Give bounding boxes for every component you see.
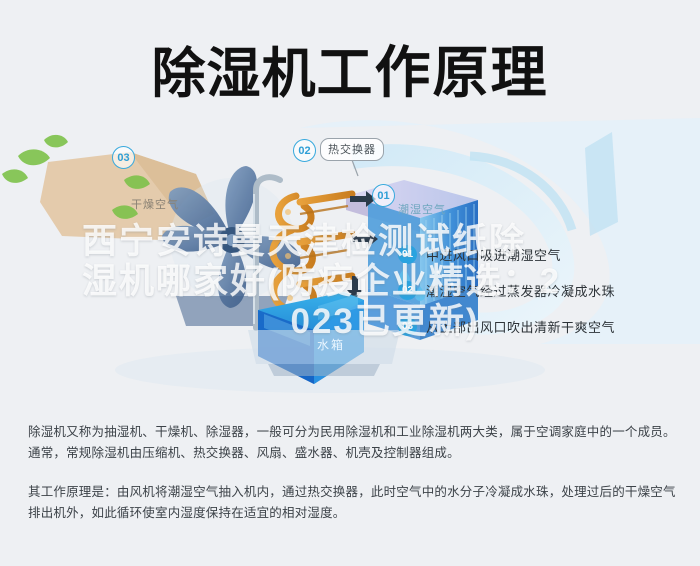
label-water-tank: 水箱 — [317, 336, 345, 353]
paragraph-two-line-1: 其工作原理是：由风机将潮湿空气抽入机内，通过热交换器，此时空气中的水分子冷凝成水… — [28, 482, 676, 503]
step-list: 01 中进风口吸进潮湿空气 02 潮湿空气经过蒸发器冷凝成水珠 03 从上部出风… — [398, 245, 615, 353]
paragraph-one: 除湿机又称为抽湿机、干燥机、除湿器，一般可分为民用除湿机和工业除湿机两大类，属于… — [28, 422, 676, 464]
label-dry-air: 干燥空气 — [131, 196, 179, 212]
step-text: 潮湿空气经过蒸发器冷凝成水珠 — [426, 281, 615, 300]
body-copy: 除湿机又称为抽湿机、干燥机、除湿器，一般可分为民用除湿机和工业除湿机两大类，属于… — [28, 422, 676, 524]
step-item: 03 从上部出风口吹出清新干爽空气 — [398, 317, 615, 336]
label-humid-air: 潮湿空气 — [398, 201, 446, 217]
step-number-badge: 02 — [398, 281, 417, 300]
diagram-marker-03: 03 — [112, 146, 135, 169]
step-text: 从上部出风口吹出清新干爽空气 — [426, 317, 615, 336]
paragraph-two: 其工作原理是：由风机将潮湿空气抽入机内，通过热交换器，此时空气中的水分子冷凝成水… — [28, 482, 676, 524]
step-number-badge: 03 — [398, 317, 417, 336]
step-number-badge: 01 — [398, 245, 417, 264]
paragraph-two-line-2: 排出机外，如此循环使室内湿度保持在适宜的相对湿度。 — [28, 503, 676, 524]
diagram-marker-02: 02 — [293, 139, 316, 162]
step-text: 中进风口吸进潮湿空气 — [426, 245, 561, 264]
title-part-1: 除湿机 — [152, 44, 317, 104]
step-item: 01 中进风口吸进潮湿空气 — [398, 245, 615, 264]
paragraph-one-line-2: 通常，常规除湿机由压缩机、热交换器、风扇、盛水器、机壳及控制器组成。 — [28, 443, 676, 464]
title-part-2: 工作原理 — [317, 43, 549, 105]
paragraph-one-line-1: 除湿机又称为抽湿机、干燥机、除湿器，一般可分为民用除湿机和工业除湿机两大类，属于… — [28, 422, 676, 443]
diagram-marker-01: 01 — [372, 184, 395, 207]
step-item: 02 潮湿空气经过蒸发器冷凝成水珠 — [398, 281, 615, 300]
infographic-page: 除湿机工作原理 — [0, 0, 700, 566]
page-title: 除湿机工作原理 — [0, 28, 700, 109]
heat-exchanger-callout: 热交换器 — [320, 138, 384, 161]
